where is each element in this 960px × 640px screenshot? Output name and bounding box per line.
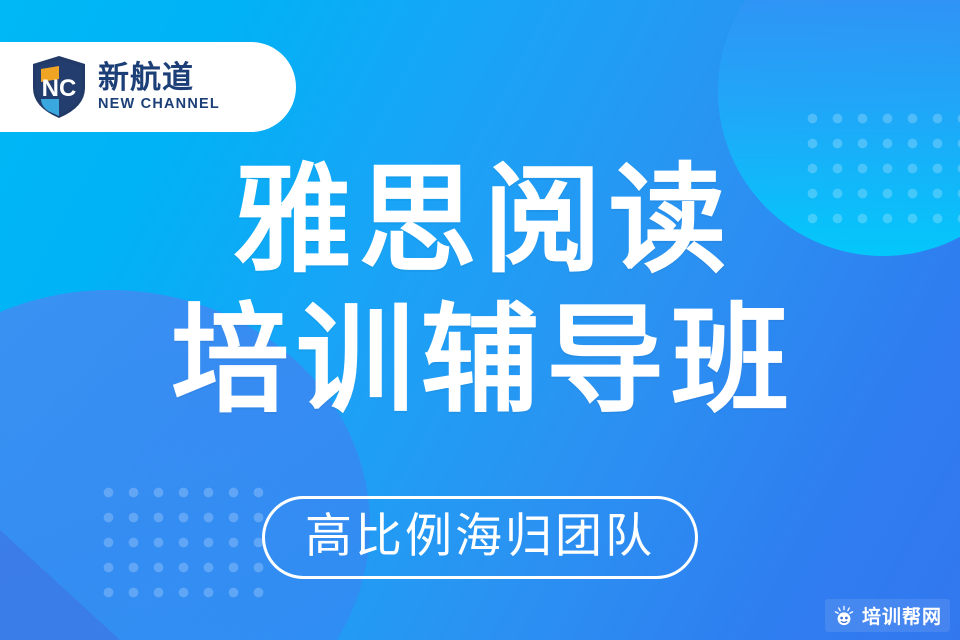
brand-logo-text: 新航道 NEW CHANNEL <box>98 62 220 112</box>
brand-logo[interactable]: NC 新航道 NEW CHANNEL <box>0 42 296 132</box>
promo-banner: NC 新航道 NEW CHANNEL 雅思阅读 培训辅导班 高比例海归团队 <box>0 0 960 640</box>
dot-grid-top-right <box>800 106 960 234</box>
brand-name-cn: 新航道 <box>98 62 220 93</box>
shield-nc-icon: NC <box>30 55 88 119</box>
subtitle-container: 高比例海归团队 <box>0 496 960 579</box>
watermark-label: 培训帮网 <box>862 602 942 629</box>
svg-text:NC: NC <box>42 75 77 102</box>
site-watermark: 培训帮网 <box>825 599 950 632</box>
sun-face-icon <box>833 605 855 627</box>
brand-name-en: NEW CHANNEL <box>98 97 220 112</box>
subtitle-badge: 高比例海归团队 <box>262 496 698 579</box>
